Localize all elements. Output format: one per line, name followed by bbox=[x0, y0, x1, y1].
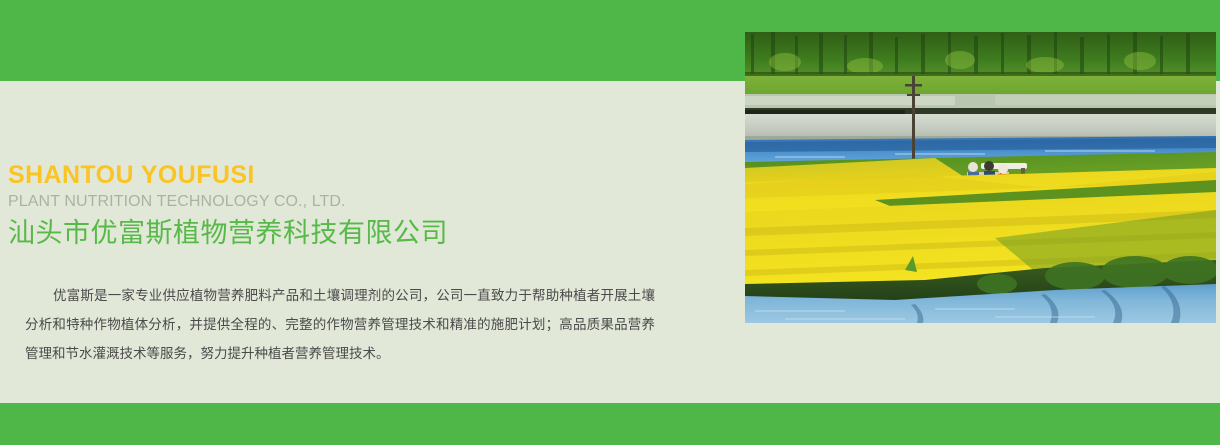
rice-paddy-photo bbox=[745, 32, 1216, 323]
brand-name-chinese: 汕头市优富斯植物营养科技有限公司 bbox=[0, 211, 730, 250]
company-description-paragraph: 优富斯是一家专业供应植物营养肥料产品和土壤调理剂的公司，公司一直致力于帮助种植者… bbox=[0, 250, 680, 369]
rice-paddy-illustration bbox=[745, 32, 1216, 323]
company-text-column: SHANTOU YOUFUSI PLANT NUTRITION TECHNOLO… bbox=[0, 160, 730, 369]
brand-subtitle-english: PLANT NUTRITION TECHNOLOGY CO., LTD. bbox=[0, 190, 730, 211]
brand-name-english: SHANTOU YOUFUSI bbox=[0, 160, 730, 190]
company-intro-page: SHANTOU YOUFUSI PLANT NUTRITION TECHNOLO… bbox=[0, 0, 1220, 445]
bottom-green-band bbox=[0, 403, 1220, 445]
